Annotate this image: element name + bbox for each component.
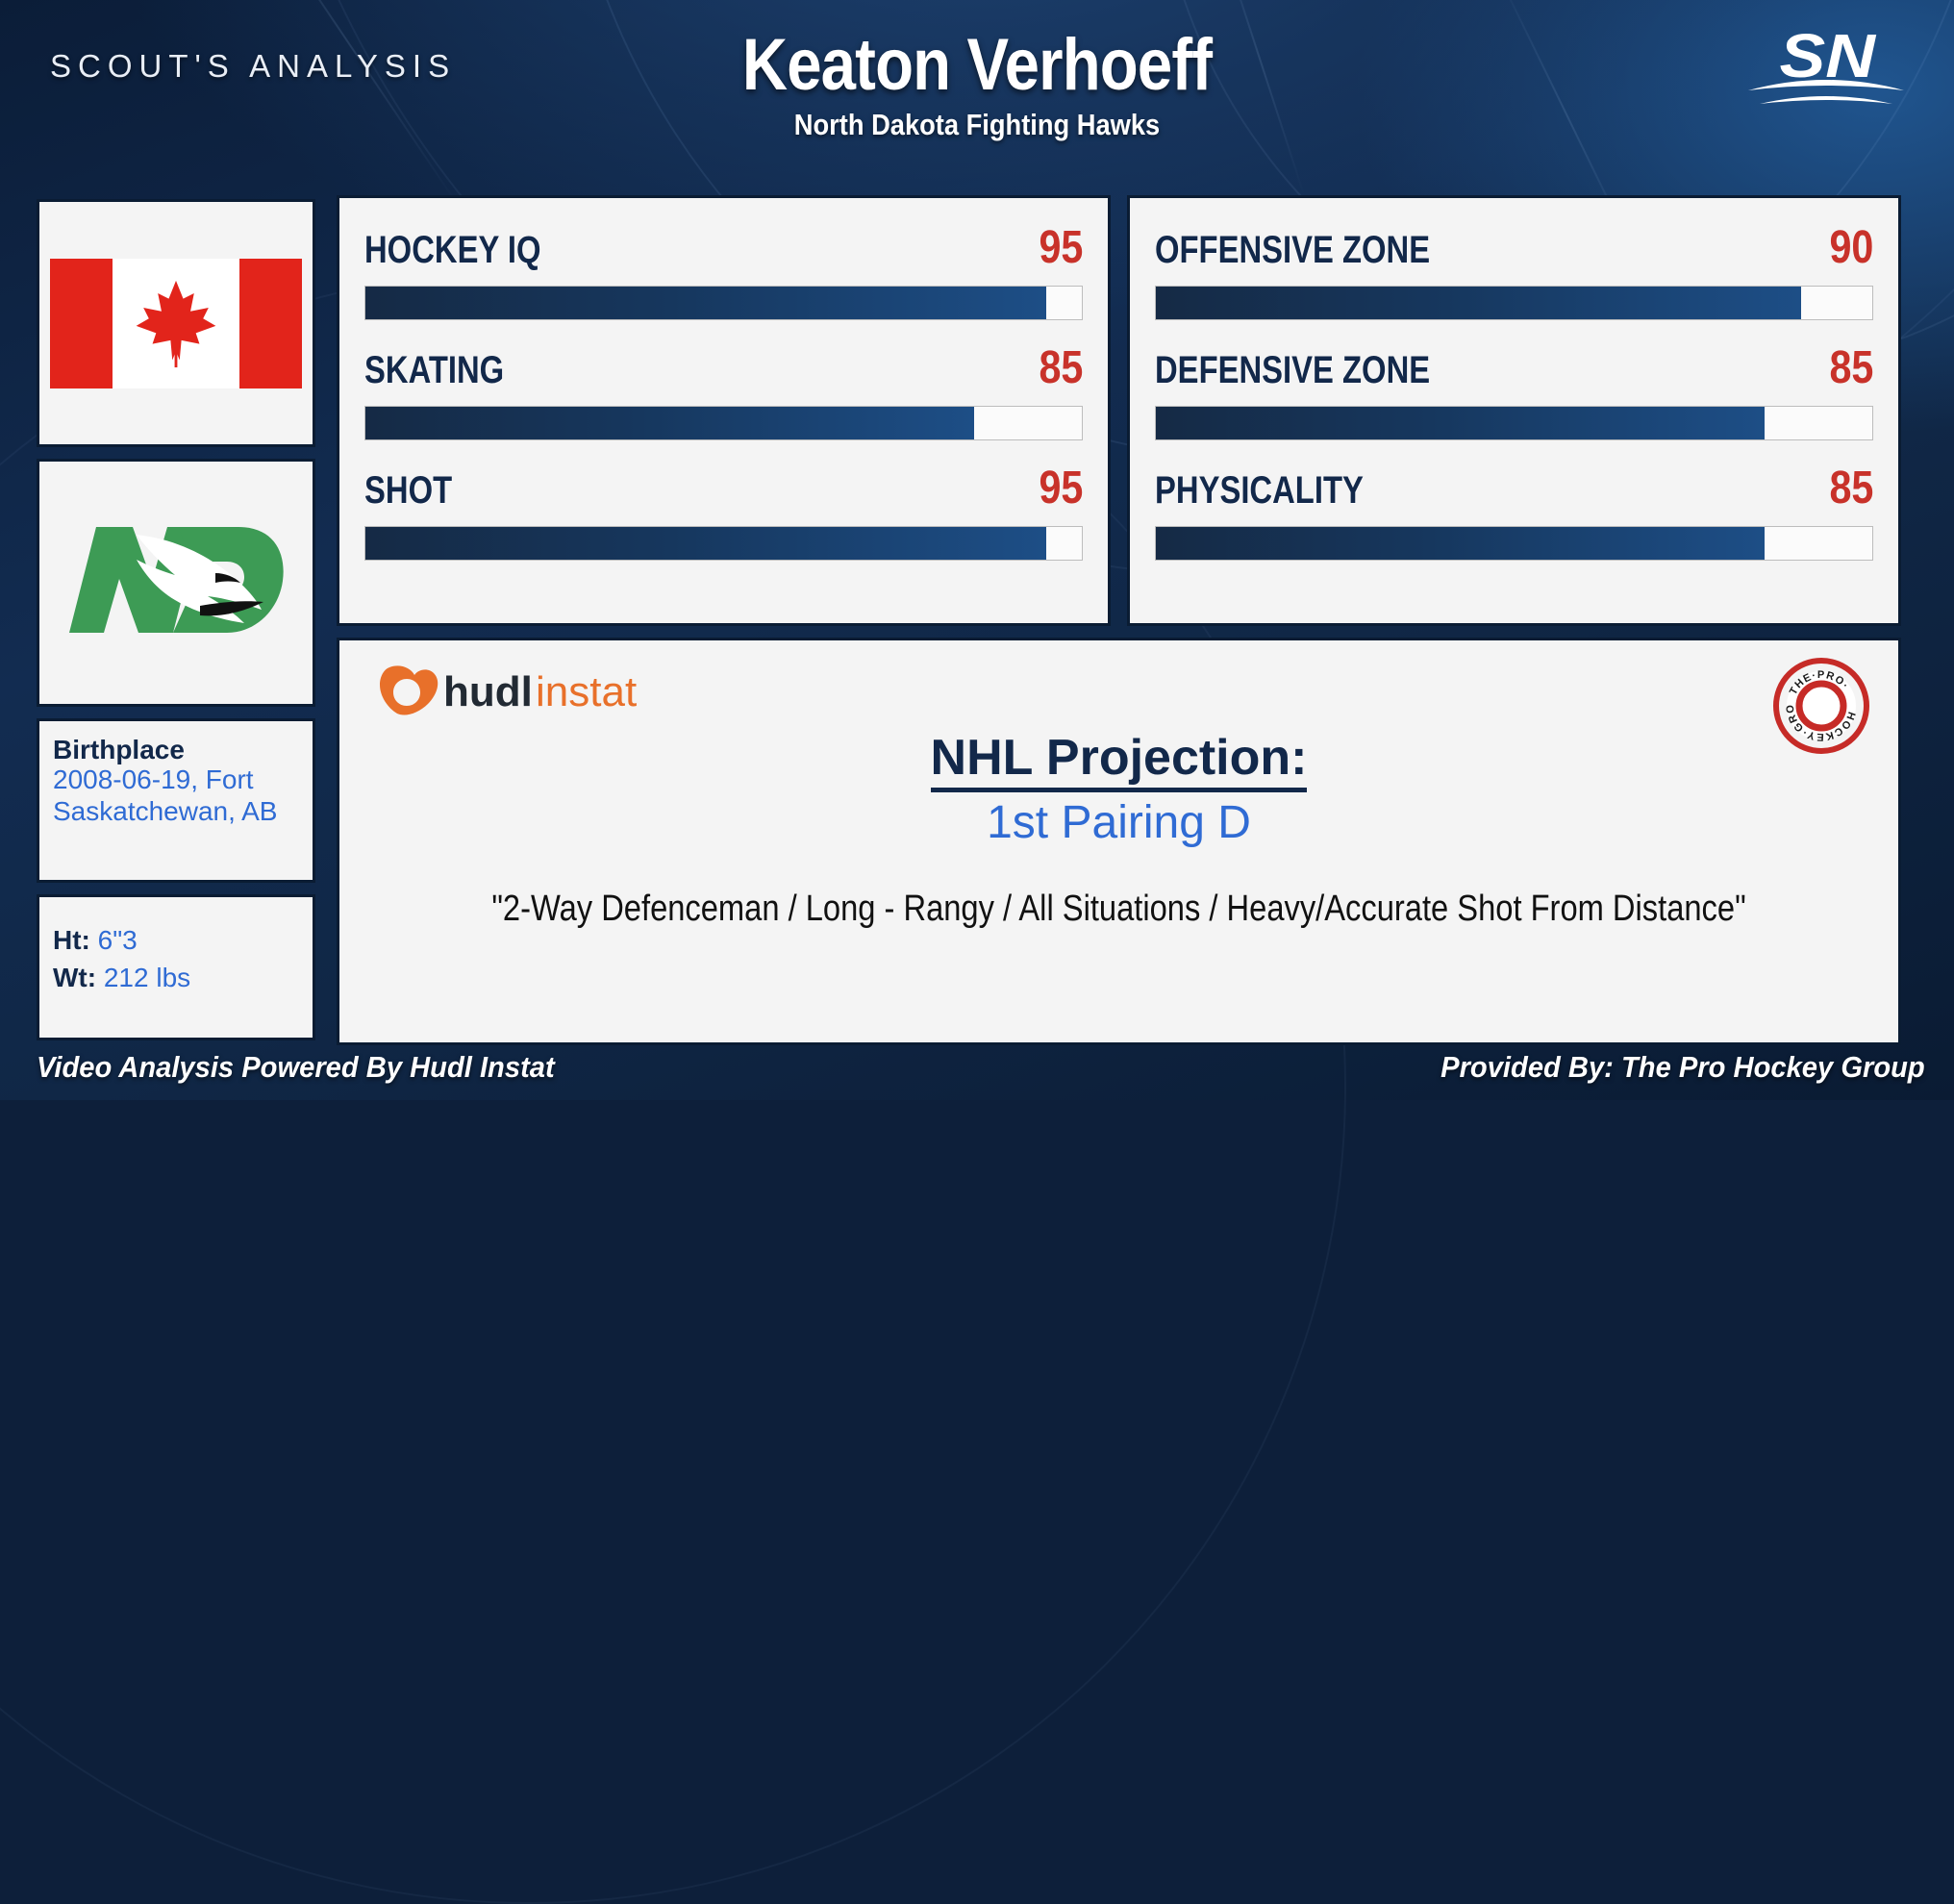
stat-row: SHOT95	[364, 462, 1083, 561]
team-logo-card	[37, 459, 315, 707]
stat-header: PHYSICALITY85	[1155, 462, 1873, 514]
canada-flag-icon	[50, 259, 302, 388]
team-subtitle: North Dakota Fighting Hawks	[117, 108, 1837, 142]
sportsnet-logo-icon: SN	[1744, 21, 1908, 110]
stat-bar-track	[1155, 526, 1873, 561]
projection-quote: "2-Way Defenceman / Long - Rangy / All S…	[448, 889, 1789, 930]
stat-row: DEFENSIVE ZONE85	[1155, 341, 1873, 440]
stat-row: HOCKEY IQ95	[364, 221, 1083, 320]
stat-row: OFFENSIVE ZONE90	[1155, 221, 1873, 320]
projection-panel: hudl instat THE·PRO· HOCKEY·GROUP NHL Pr…	[337, 638, 1901, 1045]
stat-value: 90	[1829, 221, 1873, 274]
stat-bar-fill	[365, 407, 974, 439]
stat-label: OFFENSIVE ZONE	[1155, 229, 1430, 272]
stat-bar-track	[364, 526, 1083, 561]
svg-text:hudl: hudl	[443, 668, 533, 715]
projection-value: 1st Pairing D	[339, 796, 1898, 849]
stat-value: 95	[1039, 462, 1083, 514]
stat-header: SHOT95	[364, 462, 1083, 514]
stat-bar-fill	[1156, 407, 1765, 439]
stat-bar-fill	[1156, 287, 1801, 319]
stat-header: SKATING85	[364, 341, 1083, 394]
stat-row: PHYSICALITY85	[1155, 462, 1873, 561]
stat-bar-fill	[365, 527, 1046, 560]
stat-label: DEFENSIVE ZONE	[1155, 349, 1430, 392]
stat-value: 95	[1039, 221, 1083, 274]
nationality-flag-card	[37, 199, 315, 447]
height-value: 6"3	[98, 925, 138, 955]
weight-row: Wt: 212 lbs	[53, 960, 301, 997]
stat-bar-fill	[1156, 527, 1765, 560]
header: SCOUT'S ANALYSIS Keaton Verhoeff North D…	[0, 0, 1954, 144]
stat-bar-track	[364, 286, 1083, 320]
north-dakota-fighting-hawks-logo-icon	[56, 506, 296, 660]
birthplace-card: Birthplace 2008-06-19, Fort Saskatchewan…	[37, 718, 315, 883]
stat-label: SKATING	[364, 349, 504, 392]
weight-label: Wt:	[53, 963, 96, 992]
page-title: Keaton Verhoeff	[137, 23, 1817, 107]
weight-value: 212 lbs	[104, 963, 190, 992]
stat-value: 85	[1039, 341, 1083, 394]
stat-header: DEFENSIVE ZONE85	[1155, 341, 1873, 394]
footer-right-text: Provided By: The Pro Hockey Group	[1440, 1050, 1925, 1085]
stat-bar-track	[1155, 286, 1873, 320]
height-row: Ht: 6"3	[53, 922, 301, 960]
stat-value: 85	[1829, 341, 1873, 394]
stat-label: PHYSICALITY	[1155, 469, 1364, 513]
birthplace-label: Birthplace	[53, 735, 301, 764]
projection-title: NHL Projection:	[339, 729, 1898, 787]
measurements-card: Ht: 6"3 Wt: 212 lbs	[37, 894, 315, 1040]
hudl-instat-logo-icon: hudl instat	[366, 662, 655, 721]
svg-text:instat: instat	[536, 668, 637, 715]
attribute-panel-left: HOCKEY IQ95SKATING85SHOT95	[337, 195, 1111, 626]
stat-bar-track	[364, 406, 1083, 440]
stat-row: SKATING85	[364, 341, 1083, 440]
footer-left-text: Video Analysis Powered By Hudl Instat	[37, 1050, 555, 1085]
stat-label: HOCKEY IQ	[364, 229, 540, 272]
attribute-panel-right: OFFENSIVE ZONE90DEFENSIVE ZONE85PHYSICAL…	[1127, 195, 1901, 626]
stat-header: OFFENSIVE ZONE90	[1155, 221, 1873, 274]
stat-value: 85	[1829, 462, 1873, 514]
stat-bar-fill	[365, 287, 1046, 319]
stat-bar-track	[1155, 406, 1873, 440]
stat-label: SHOT	[364, 469, 452, 513]
stat-header: HOCKEY IQ95	[364, 221, 1083, 274]
birthplace-value: 2008-06-19, Fort Saskatchewan, AB	[53, 764, 301, 828]
height-label: Ht:	[53, 925, 90, 955]
